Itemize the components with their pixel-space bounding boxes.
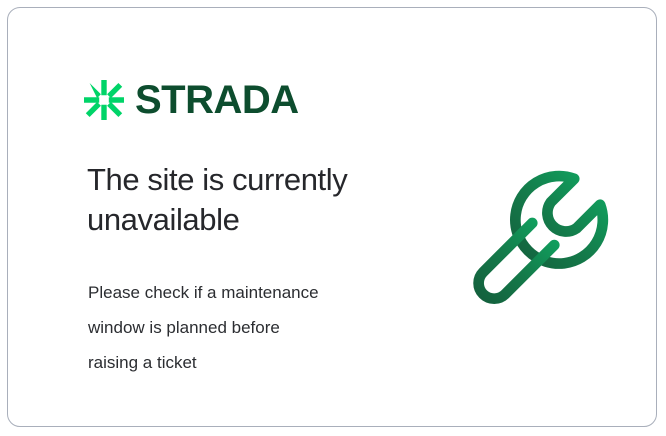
strada-asterisk-icon <box>82 78 126 122</box>
status-description-line: raising a ticket <box>88 346 398 381</box>
status-description: Please check if a maintenance window is … <box>88 276 398 381</box>
page: STRADA The site is currently unavailable… <box>0 0 666 436</box>
brand-wordmark: STRADA <box>135 80 299 120</box>
brand-logo: STRADA <box>82 74 299 126</box>
status-description-line: Please check if a maintenance <box>88 276 398 311</box>
status-description-line: window is planned before <box>88 311 398 346</box>
page-title: The site is currently unavailable <box>87 160 417 239</box>
status-card: STRADA The site is currently unavailable… <box>7 7 657 427</box>
wrench-icon <box>460 160 622 322</box>
